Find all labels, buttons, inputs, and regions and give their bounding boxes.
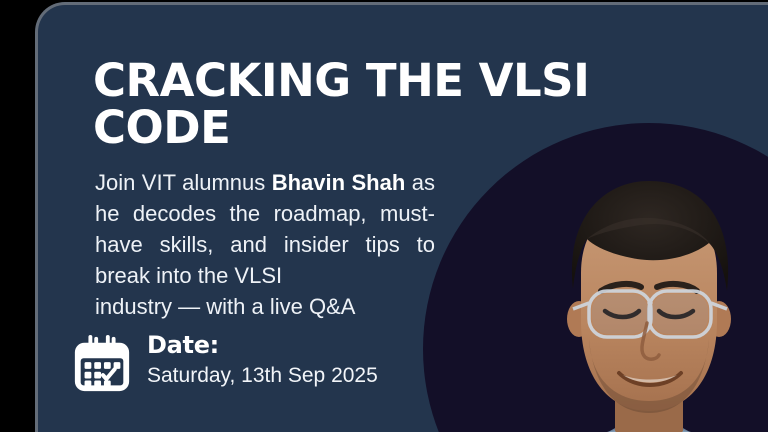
page-title: Cracking the VLSI Code	[93, 57, 633, 151]
calendar-check-icon	[71, 333, 133, 395]
description-last-line: industry — with a live Q&A	[95, 291, 435, 322]
speaker-name: Bhavin Shah	[272, 170, 406, 195]
poster-canvas: Cracking the VLSI Code Join VIT alumnus …	[0, 0, 768, 432]
description-text: Join VIT alumnus Bhavin Shah as he decod…	[95, 167, 435, 322]
date-label: Date:	[147, 331, 378, 359]
date-block: Date: Saturday, 13th Sep 2025	[71, 330, 378, 395]
poster-card: Cracking the VLSI Code Join VIT alumnus …	[35, 2, 768, 432]
date-value: Saturday, 13th Sep 2025	[147, 362, 378, 389]
date-text-group: Date: Saturday, 13th Sep 2025	[147, 330, 378, 389]
portrait-circle	[423, 123, 768, 432]
speaker-portrait	[423, 123, 768, 432]
description-prefix: Join VIT alumnus	[95, 170, 272, 195]
